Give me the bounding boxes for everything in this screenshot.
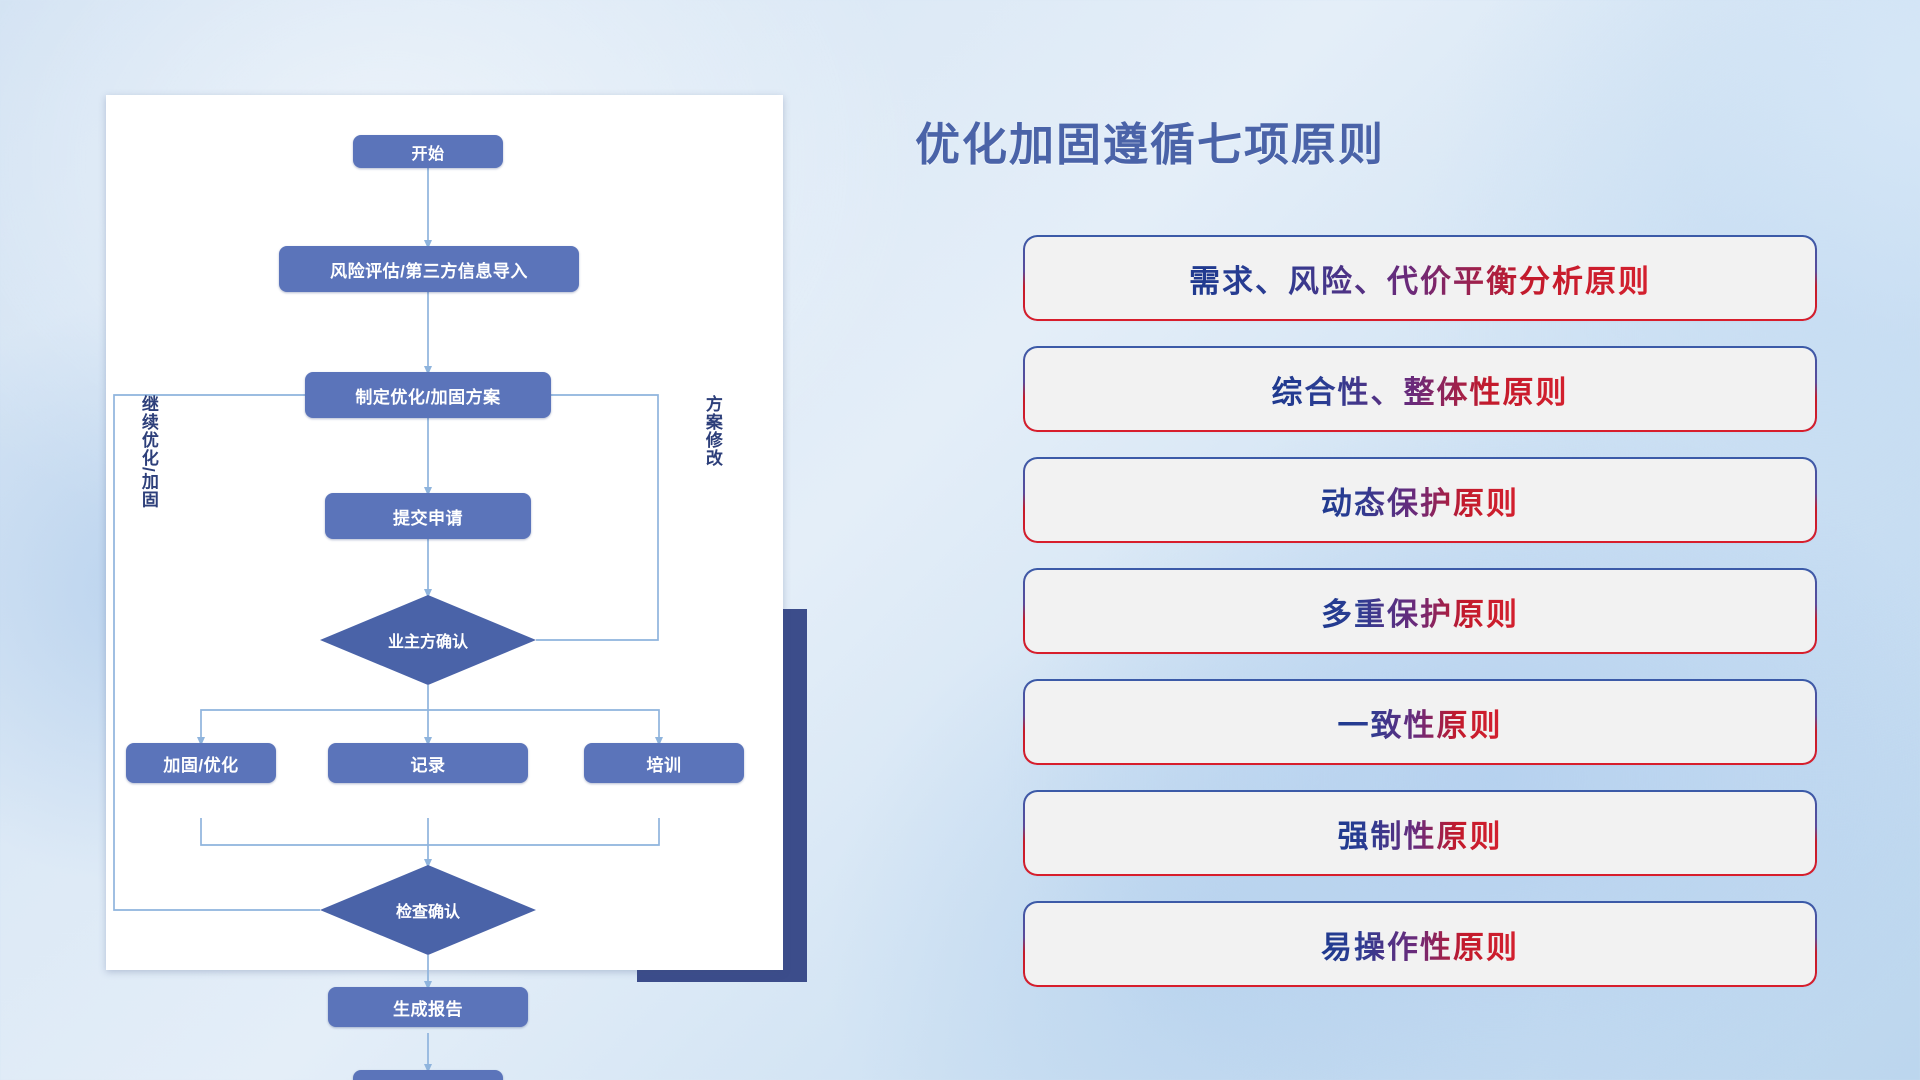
principles-list: 需求、风险、代价平衡分析原则 综合性、整体性原则 动态保护原则 多重保护原则 一… [1025,237,1815,1014]
edge-label-plan-revision: 方案修改 [703,395,721,467]
flow-node-risk-assessment[interactable]: 风险评估/第三方信息导入 [279,246,579,292]
flowchart-card: 开始 风险评估/第三方信息导入 制定优化/加固方案 提交申请 业主方确认 加固/… [106,95,783,970]
flow-node-owner-confirm[interactable]: 业主方确认 [320,595,536,685]
flow-node-end[interactable]: 结束 [353,1070,503,1080]
flow-node-label: 风险评估/第三方信息导入 [330,257,528,282]
flow-node-training[interactable]: 培训 [584,743,744,783]
flow-node-make-plan[interactable]: 制定优化/加固方案 [305,372,551,418]
principle-label: 一致性原则 [1338,700,1503,745]
principle-card-6[interactable]: 强制性原则 [1025,792,1815,874]
flow-node-label: 提交申请 [393,504,463,529]
edge-label-continue-optimize: 继续优化/加固 [139,395,157,509]
flow-node-label: 结束 [411,1077,444,1080]
principle-card-5[interactable]: 一致性原则 [1025,681,1815,763]
principle-card-1[interactable]: 需求、风险、代价平衡分析原则 [1025,237,1815,319]
flow-node-label: 业主方确认 [388,628,468,652]
flow-node-label: 培训 [647,751,682,776]
principle-card-3[interactable]: 动态保护原则 [1025,459,1815,541]
flow-node-check-confirm[interactable]: 检查确认 [320,865,536,955]
principle-label: 强制性原则 [1338,811,1503,856]
flow-node-label: 开始 [411,140,444,164]
flow-node-label: 加固/优化 [163,751,238,776]
flow-node-label: 制定优化/加固方案 [355,383,500,408]
flow-node-label: 生成报告 [393,995,463,1020]
flow-node-label: 检查确认 [396,898,460,922]
principle-card-2[interactable]: 综合性、整体性原则 [1025,348,1815,430]
principle-label: 动态保护原则 [1321,478,1519,523]
principle-label: 综合性、整体性原则 [1272,367,1569,412]
flow-node-submit-application[interactable]: 提交申请 [325,493,531,539]
flow-node-start[interactable]: 开始 [353,135,503,168]
principle-label: 需求、风险、代价平衡分析原则 [1189,256,1651,301]
right-panel-title: 优化加固遵循七项原则 [915,108,1385,173]
principle-card-4[interactable]: 多重保护原则 [1025,570,1815,652]
flow-node-generate-report[interactable]: 生成报告 [328,987,528,1027]
principle-label: 多重保护原则 [1321,589,1519,634]
flowchart-canvas: 开始 风险评估/第三方信息导入 制定优化/加固方案 提交申请 业主方确认 加固/… [106,95,783,970]
principle-card-7[interactable]: 易操作性原则 [1025,903,1815,985]
flow-node-record[interactable]: 记录 [328,743,528,783]
principle-label: 易操作性原则 [1321,922,1519,967]
flow-node-reinforce-optimize[interactable]: 加固/优化 [126,743,276,783]
flow-node-label: 记录 [411,751,446,776]
